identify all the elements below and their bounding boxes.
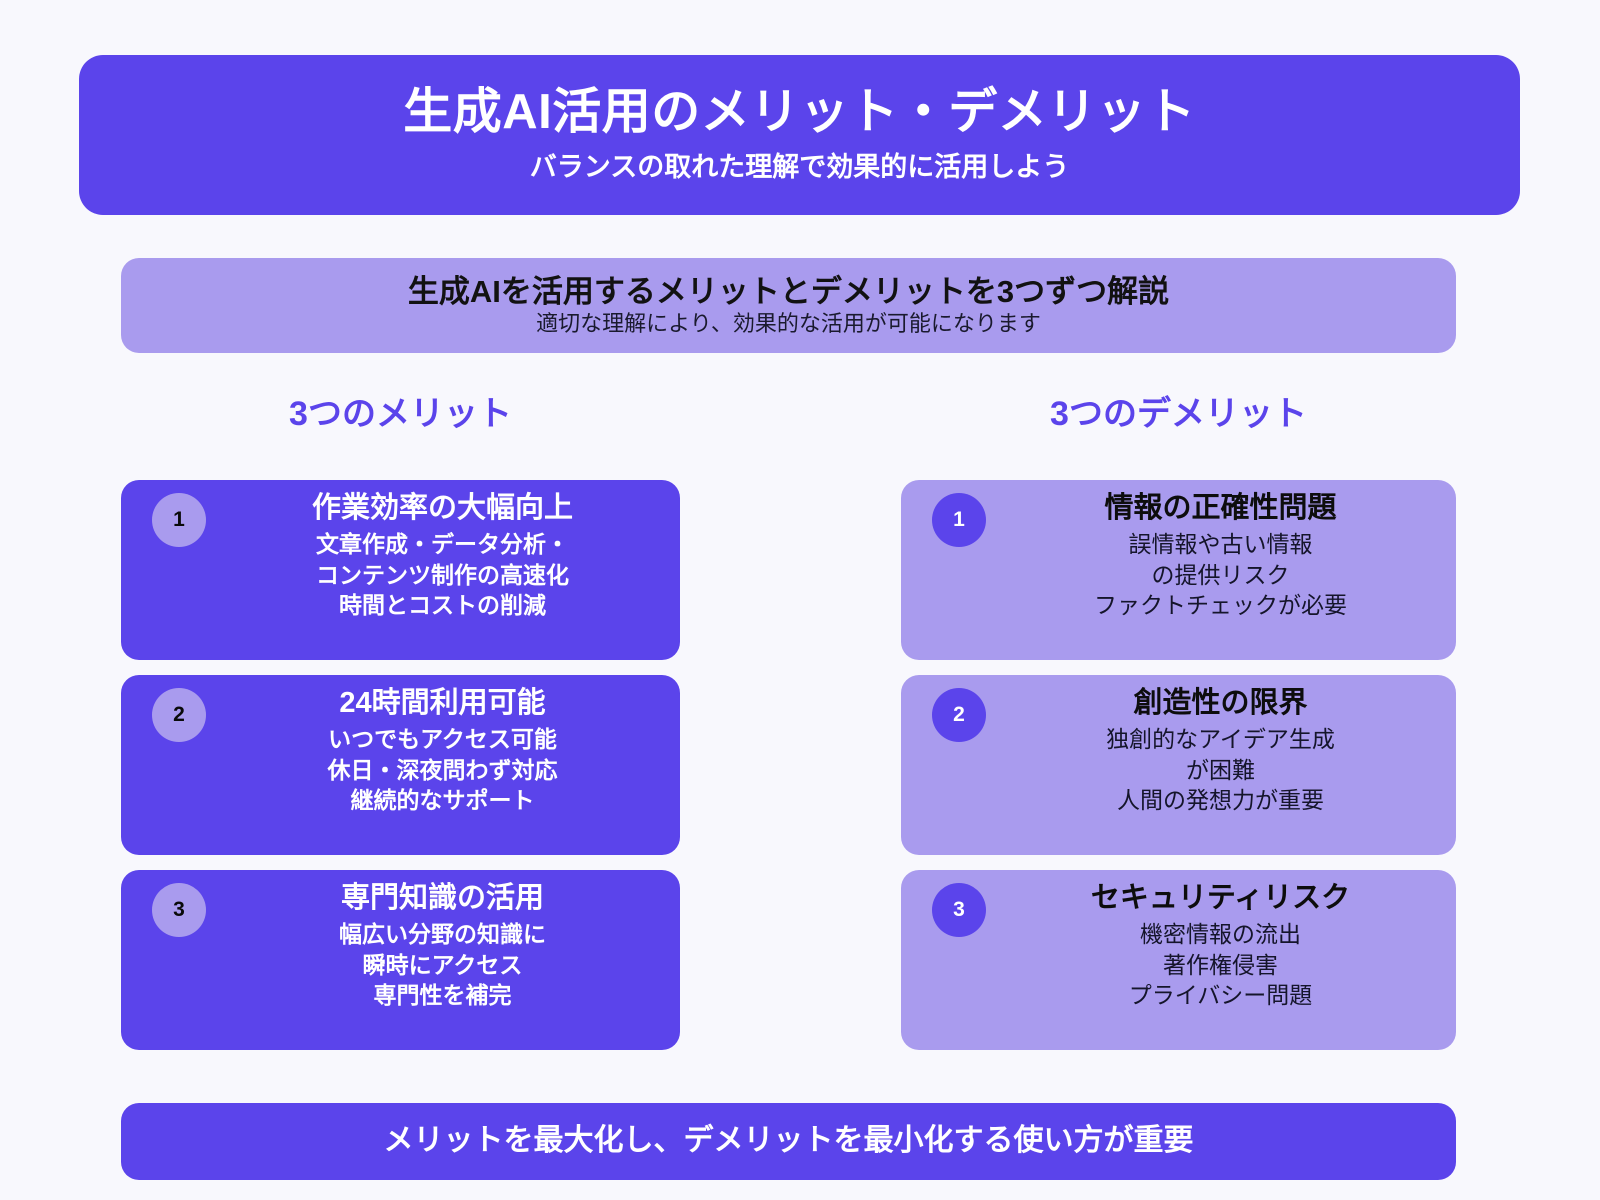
footer-banner: メリットを最大化し、デメリットを最小化する使い方が重要: [121, 1103, 1456, 1180]
demerit-desc-1: 誤情報や古い情報 の提供リスク ファクトチェックが必要: [997, 529, 1444, 620]
merit-title-3: 専門知識の活用: [217, 880, 668, 916]
merit-title-1: 作業効率の大幅向上: [217, 490, 668, 526]
merit-card-1: 1 作業効率の大幅向上 文章作成・データ分析・ コンテンツ制作の高速化 時間とコ…: [121, 480, 680, 660]
merit-title-2: 24時間利用可能: [217, 685, 668, 721]
merit-desc-line: 専門性を補完: [217, 980, 668, 1010]
demerits-heading: 3つのデメリット: [901, 396, 1456, 433]
demerit-desc-line: 著作権侵害: [997, 950, 1444, 980]
demerit-title-2: 創造性の限界: [997, 685, 1444, 721]
demerit-card-3: 3 セキュリティリスク 機密情報の流出 著作権侵害 プライバシー問題: [901, 870, 1456, 1050]
page-title: 生成AI活用のメリット・デメリット: [403, 87, 1196, 138]
merit-desc-line: 文章作成・データ分析・: [217, 529, 668, 559]
demerit-desc-line: プライバシー問題: [997, 980, 1444, 1010]
merit-desc-line: 瞬時にアクセス: [217, 950, 668, 980]
demerit-title-3: セキュリティリスク: [997, 880, 1444, 916]
merit-badge-3: 3: [152, 883, 206, 937]
merit-desc-line: 休日・深夜問わず対応: [217, 755, 668, 785]
demerit-desc-line: 誤情報や古い情報: [997, 529, 1444, 559]
demerit-badge-2: 2: [932, 688, 986, 742]
summary-banner: 生成AIを活用するメリットとデメリットを3つずつ解説 適切な理解により、効果的な…: [121, 258, 1456, 353]
demerit-title-1: 情報の正確性問題: [997, 490, 1444, 526]
merit-badge-1: 1: [152, 493, 206, 547]
infographic-page: 生成AI活用のメリット・デメリット バランスの取れた理解で効果的に活用しよう 生…: [0, 0, 1600, 1200]
demerit-desc-line: 独創的なアイデア生成: [997, 724, 1444, 754]
merit-desc-line: 継続的なサポート: [217, 785, 668, 815]
demerit-card-2: 2 創造性の限界 独創的なアイデア生成 が困難 人間の発想力が重要: [901, 675, 1456, 855]
demerit-desc-line: 機密情報の流出: [997, 919, 1444, 949]
summary-subtitle: 適切な理解により、効果的な活用が可能になります: [536, 311, 1041, 337]
merit-desc-line: コンテンツ制作の高速化: [217, 560, 668, 590]
footer-text: メリットを最大化し、デメリットを最小化する使い方が重要: [384, 1124, 1194, 1159]
demerit-desc-line: 人間の発想力が重要: [997, 785, 1444, 815]
demerit-card-body-1: 情報の正確性問題 誤情報や古い情報 の提供リスク ファクトチェックが必要: [997, 490, 1444, 620]
merit-desc-line: 時間とコストの削減: [217, 590, 668, 620]
merit-badge-2: 2: [152, 688, 206, 742]
merit-desc-line: いつでもアクセス可能: [217, 724, 668, 754]
demerit-desc-line: ファクトチェックが必要: [997, 590, 1444, 620]
demerit-desc-3: 機密情報の流出 著作権侵害 プライバシー問題: [997, 919, 1444, 1010]
merit-desc-1: 文章作成・データ分析・ コンテンツ制作の高速化 時間とコストの削減: [217, 529, 668, 620]
demerit-card-body-2: 創造性の限界 独創的なアイデア生成 が困難 人間の発想力が重要: [997, 685, 1444, 815]
demerit-desc-line: の提供リスク: [997, 560, 1444, 590]
summary-title: 生成AIを活用するメリットとデメリットを3つずつ解説: [408, 273, 1169, 310]
merit-card-body-1: 作業効率の大幅向上 文章作成・データ分析・ コンテンツ制作の高速化 時間とコスト…: [217, 490, 668, 620]
demerit-desc-2: 独創的なアイデア生成 が困難 人間の発想力が重要: [997, 724, 1444, 815]
merit-card-3: 3 専門知識の活用 幅広い分野の知識に 瞬時にアクセス 専門性を補完: [121, 870, 680, 1050]
merit-card-body-2: 24時間利用可能 いつでもアクセス可能 休日・深夜問わず対応 継続的なサポート: [217, 685, 668, 815]
merit-card-2: 2 24時間利用可能 いつでもアクセス可能 休日・深夜問わず対応 継続的なサポー…: [121, 675, 680, 855]
page-subtitle: バランスの取れた理解で効果的に活用しよう: [530, 153, 1069, 183]
demerit-badge-3: 3: [932, 883, 986, 937]
merit-desc-2: いつでもアクセス可能 休日・深夜問わず対応 継続的なサポート: [217, 724, 668, 815]
demerit-desc-line: が困難: [997, 755, 1444, 785]
demerit-badge-1: 1: [932, 493, 986, 547]
merits-heading: 3つのメリット: [121, 396, 680, 433]
header-banner: 生成AI活用のメリット・デメリット バランスの取れた理解で効果的に活用しよう: [79, 55, 1520, 215]
demerit-card-1: 1 情報の正確性問題 誤情報や古い情報 の提供リスク ファクトチェックが必要: [901, 480, 1456, 660]
merit-desc-3: 幅広い分野の知識に 瞬時にアクセス 専門性を補完: [217, 919, 668, 1010]
demerit-card-body-3: セキュリティリスク 機密情報の流出 著作権侵害 プライバシー問題: [997, 880, 1444, 1010]
merit-card-body-3: 専門知識の活用 幅広い分野の知識に 瞬時にアクセス 専門性を補完: [217, 880, 668, 1010]
merit-desc-line: 幅広い分野の知識に: [217, 919, 668, 949]
